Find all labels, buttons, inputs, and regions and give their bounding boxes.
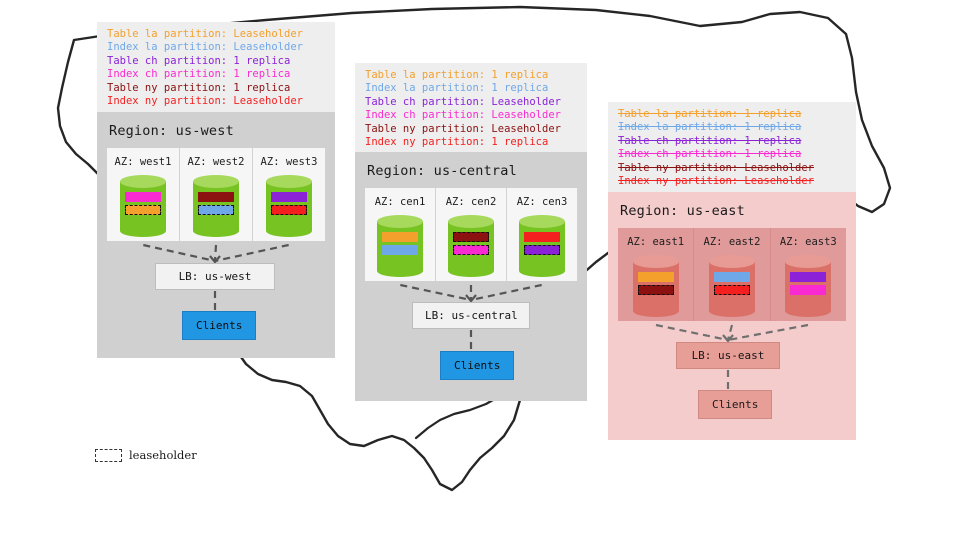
leaseholder-swatch-icon (95, 449, 122, 462)
clients-us-east[interactable]: Clients (698, 390, 772, 419)
az-cell-west3[interactable]: AZ: west3 (253, 148, 325, 241)
az-label: AZ: west3 (261, 148, 318, 175)
az-label: AZ: east2 (704, 228, 761, 255)
az-cell-cen1[interactable]: AZ: cen1 (365, 188, 436, 281)
legend-line: Table ny partition: Leaseholder (618, 162, 846, 175)
leaseholder-key: leaseholder (95, 448, 197, 462)
az-label: AZ: east3 (780, 228, 837, 255)
az-label: AZ: cen2 (446, 188, 497, 215)
node-cylinder-icon[interactable] (633, 255, 679, 317)
partition-bar-index-ny (271, 205, 307, 215)
legend-line: Table ny partition: Leaseholder (365, 123, 577, 136)
legend-line: Index ny partition: Leaseholder (618, 175, 846, 188)
partition-bar-table-ch (524, 245, 560, 255)
partition-bar-table-la (382, 232, 418, 242)
partition-legend-us-east: Table la partition: 1 replicaIndex la pa… (608, 102, 856, 195)
leaseholder-key-label: leaseholder (129, 448, 197, 462)
az-label: AZ: cen1 (375, 188, 426, 215)
az-cell-cen3[interactable]: AZ: cen3 (507, 188, 577, 281)
legend-line: Table la partition: 1 replica (618, 108, 846, 121)
az-label: AZ: cen3 (517, 188, 568, 215)
cylinder-top (448, 215, 494, 228)
node-cylinder-icon[interactable] (519, 215, 565, 277)
clients-label: Clients (712, 398, 758, 411)
cylinder-top (709, 255, 755, 268)
legend-line: Index ny partition: 1 replica (365, 136, 577, 149)
partition-bar-index-ch (790, 285, 826, 295)
az-cell-west1[interactable]: AZ: west1 (107, 148, 180, 241)
legend-line: Index ch partition: Leaseholder (365, 109, 577, 122)
node-cylinder-icon[interactable] (377, 215, 423, 277)
legend-line: Table ch partition: 1 replica (107, 55, 325, 68)
legend-line: Table ch partition: Leaseholder (365, 96, 577, 109)
az-label: AZ: east1 (627, 228, 684, 255)
partition-bar-table-ny (198, 192, 234, 202)
node-cylinder-icon[interactable] (120, 175, 166, 237)
clients-us-central[interactable]: Clients (440, 351, 514, 380)
partition-bar-index-ch (453, 245, 489, 255)
node-cylinder-icon[interactable] (193, 175, 239, 237)
node-cylinder-icon[interactable] (266, 175, 312, 237)
clients-label: Clients (454, 359, 500, 372)
load-balancer-us-central[interactable]: LB: us-central (412, 302, 530, 329)
legend-line: Index ch partition: 1 replica (107, 68, 325, 81)
partition-bar-index-ny (714, 285, 750, 295)
az-label: AZ: west2 (188, 148, 245, 175)
clients-label: Clients (196, 319, 242, 332)
az-cell-east1[interactable]: AZ: east1 (618, 228, 694, 321)
cylinder-top (633, 255, 679, 268)
legend-line: Index la partition: Leaseholder (107, 41, 325, 54)
legend-line: Index la partition: 1 replica (618, 121, 846, 134)
legend-line: Table la partition: 1 replica (365, 69, 577, 82)
partition-bar-index-la (198, 205, 234, 215)
az-label: AZ: west1 (115, 148, 172, 175)
legend-line: Index la partition: 1 replica (365, 82, 577, 95)
legend-line: Index ny partition: Leaseholder (107, 95, 325, 108)
region-title: Region: us-west (97, 112, 335, 148)
legend-line: Table la partition: Leaseholder (107, 28, 325, 41)
partition-bar-table-ny (453, 232, 489, 242)
cylinder-top (193, 175, 239, 188)
partition-legend-us-central: Table la partition: 1 replicaIndex la pa… (355, 63, 587, 156)
legend-line: Table ny partition: 1 replica (107, 82, 325, 95)
node-cylinder-icon[interactable] (785, 255, 831, 317)
legend-line: Index ch partition: 1 replica (618, 148, 846, 161)
load-balancer-us-west[interactable]: LB: us-west (155, 263, 275, 290)
az-cell-cen2[interactable]: AZ: cen2 (436, 188, 507, 281)
az-cell-west2[interactable]: AZ: west2 (180, 148, 253, 241)
node-cylinder-icon[interactable] (709, 255, 755, 317)
partition-bar-table-la (638, 272, 674, 282)
partition-bar-index-la (714, 272, 750, 282)
load-balancer-us-east[interactable]: LB: us-east (676, 342, 780, 369)
cylinder-top (785, 255, 831, 268)
partition-legend-us-west: Table la partition: LeaseholderIndex la … (97, 22, 335, 115)
partition-bar-index-la (382, 245, 418, 255)
cylinder-top (266, 175, 312, 188)
partition-bar-table-ch (271, 192, 307, 202)
cylinder-top (120, 175, 166, 188)
partition-bar-index-ch (125, 192, 161, 202)
az-cell-east3[interactable]: AZ: east3 (771, 228, 846, 321)
cylinder-top (377, 215, 423, 228)
region-title: Region: us-central (355, 152, 587, 188)
clients-us-west[interactable]: Clients (182, 311, 256, 340)
partition-bar-index-ny (524, 232, 560, 242)
legend-line: Table ch partition: 1 replica (618, 135, 846, 148)
az-cell-east2[interactable]: AZ: east2 (694, 228, 770, 321)
partition-bar-table-la (125, 205, 161, 215)
node-cylinder-icon[interactable] (448, 215, 494, 277)
cylinder-top (519, 215, 565, 228)
partition-bar-table-ny (638, 285, 674, 295)
partition-bar-table-ch (790, 272, 826, 282)
region-title: Region: us-east (608, 192, 856, 228)
